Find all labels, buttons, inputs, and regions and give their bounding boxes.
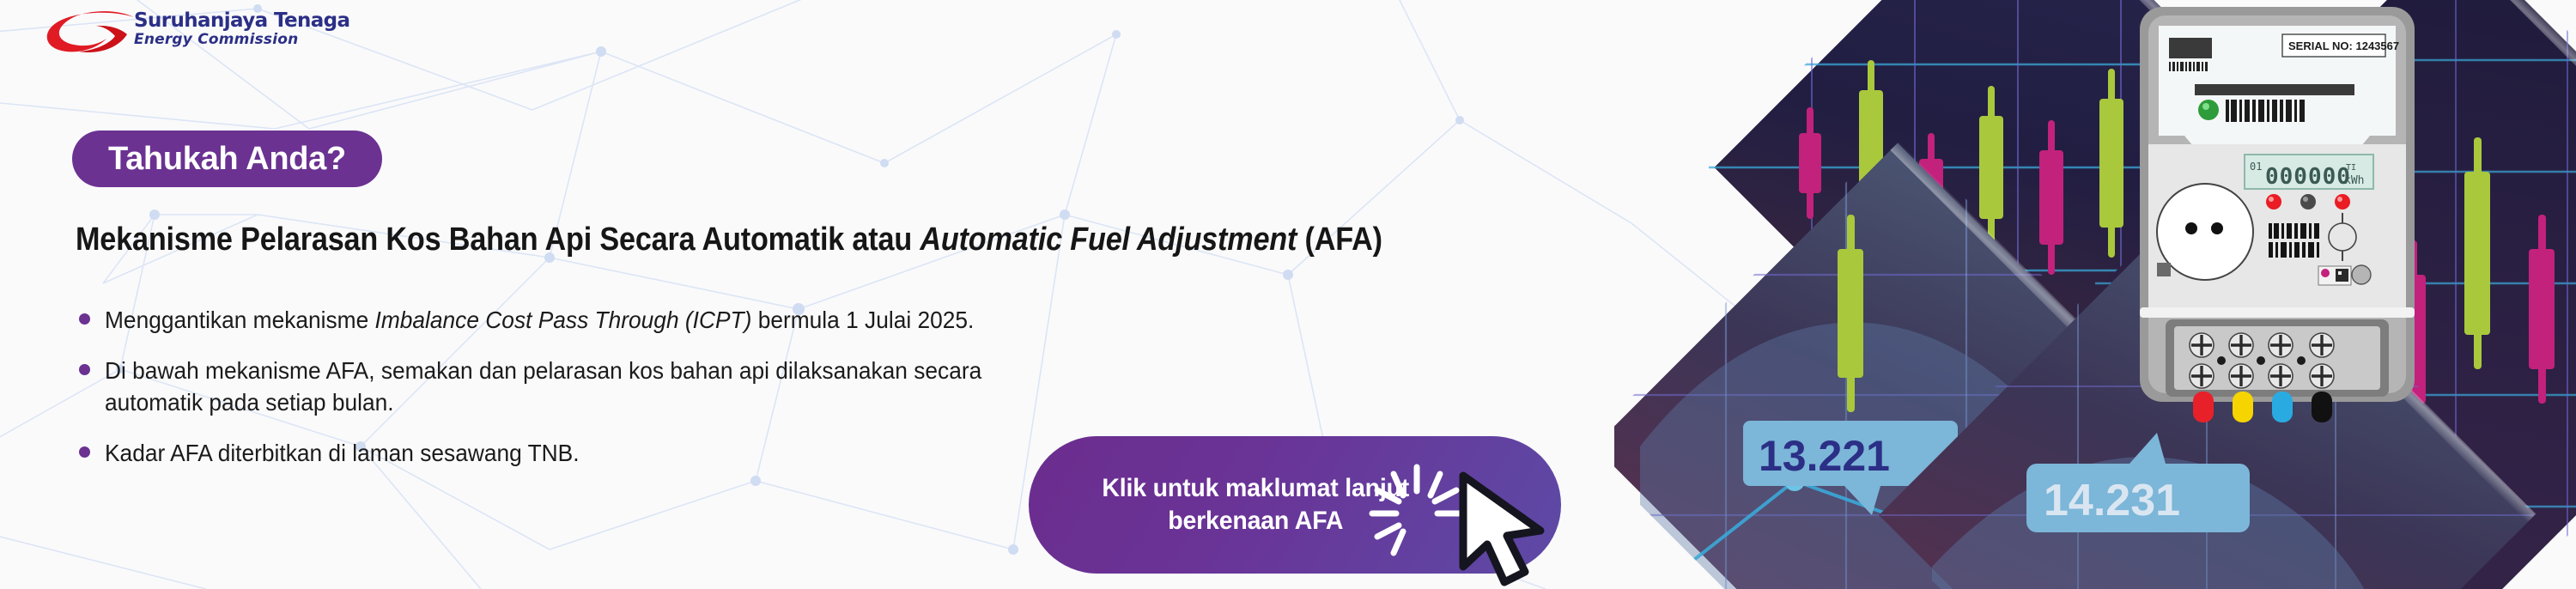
bullet-1-post: bermula 1 Julai 2025.	[751, 307, 974, 333]
list-item: Di bawah mekanisme AFA, semakan dan pela…	[74, 355, 1156, 419]
badge-label: Tahukah Anda?	[108, 141, 346, 178]
bullet-3-pre: Kadar AFA diterbitkan di laman sesawang …	[105, 440, 580, 466]
energy-commission-logo: Suruhanjaya Tenaga Energy Commission	[45, 7, 354, 60]
list-item: Kadar AFA diterbitkan di laman sesawang …	[74, 438, 1156, 470]
meter-and-chart-artwork: 2.13	[1614, 0, 2576, 589]
bullet-1-italic: Imbalance Cost Pass Through (ICPT)	[375, 307, 752, 333]
meter-display-prefix: 01	[2250, 161, 2262, 173]
bullet-list: Menggantikan mekanisme Imbalance Cost Pa…	[74, 305, 1156, 489]
bullet-2-pre: Di bawah mekanisme AFA, semakan dan pela…	[105, 357, 981, 416]
mouse-cursor-icon	[1451, 471, 1554, 589]
title-part-1: Mekanisme Pelarasan Kos Bahan Api Secara…	[76, 222, 920, 258]
bullet-dot-icon	[79, 446, 90, 458]
afa-promo-banner: Suruhanjaya Tenaga Energy Commission Tah…	[0, 0, 2576, 589]
svg-text:13.221: 13.221	[1759, 432, 1890, 480]
meter-display-digits: 000000	[2265, 164, 2351, 190]
logo-line-2: Energy Commission	[134, 32, 349, 49]
logo-wordmark: Suruhanjaya Tenaga Energy Commission	[134, 10, 349, 49]
svg-text:14.231: 14.231	[2044, 476, 2180, 525]
meter-display-unit-top: TI	[2346, 163, 2356, 173]
bullet-text: Kadar AFA diterbitkan di laman sesawang …	[105, 438, 1093, 470]
title-part-italic: Automatic Fuel Adjustment	[920, 222, 1297, 258]
bullet-text: Menggantikan mekanisme Imbalance Cost Pa…	[105, 305, 1093, 337]
bullet-dot-icon	[79, 364, 90, 375]
meter-serial-text: SERIAL NO: 1243567	[2288, 39, 2399, 52]
title-part-3: (AFA)	[1297, 222, 1382, 258]
bullet-dot-icon	[79, 313, 90, 325]
meter-display-unit: kWh	[2344, 174, 2364, 187]
bullet-text: Di bawah mekanisme AFA, semakan dan pela…	[105, 355, 1093, 419]
bullet-1-pre: Menggantikan mekanisme	[105, 307, 375, 333]
swoosh-icon	[45, 10, 139, 57]
page-title: Mekanisme Pelarasan Kos Bahan Api Secara…	[76, 222, 1382, 258]
did-you-know-badge: Tahukah Anda?	[72, 131, 382, 187]
list-item: Menggantikan mekanisme Imbalance Cost Pa…	[74, 305, 1156, 337]
afa-info-button-label: Klik untuk maklumat lanjut berkenaan AFA	[1102, 472, 1409, 538]
logo-line-1: Suruhanjaya Tenaga	[134, 10, 349, 31]
